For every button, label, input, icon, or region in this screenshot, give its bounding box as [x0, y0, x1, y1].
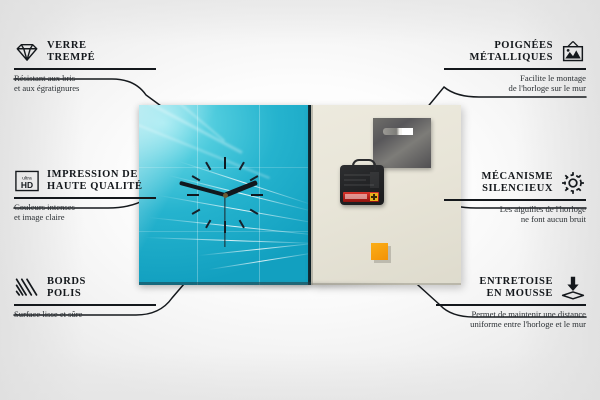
feature-desc: Couleurs intenses et image claire	[14, 202, 156, 223]
feature-desc: Facilite le montage de l'horloge sur le …	[444, 73, 586, 94]
feature-title: POIGNÉES MÉTALLIQUES	[470, 40, 553, 65]
quartz-movement-box	[340, 165, 384, 205]
feature-desc: Permet de maintenir une distance uniform…	[436, 309, 586, 330]
feature-title: VERRE TREMPÉ	[47, 40, 95, 65]
feature-entretoise-en-mousse: ENTRETOISE EN MOUSSE Permet de maintenir…	[436, 275, 586, 329]
infographic-canvas: VERRE TREMPÉ Résistant aux bris et aux é…	[0, 0, 600, 400]
ultra-hd-icon: ultra HD	[14, 168, 40, 194]
feature-rule	[444, 68, 586, 70]
clock-front-panel	[139, 105, 311, 285]
gear-icon	[560, 170, 586, 196]
svg-text:HD: HD	[21, 180, 33, 190]
feature-rule	[436, 304, 586, 306]
metal-hanger-plate	[373, 118, 431, 168]
feature-desc: Les aiguilles de l'horloge ne font aucun…	[444, 204, 586, 225]
feature-bords-polis: BORDS POLIS Surface lisse et sûre	[14, 275, 156, 319]
picture-frame-hanger-icon	[560, 39, 586, 65]
back-panel-left-edge	[311, 105, 313, 285]
product-shadow	[143, 283, 457, 292]
movement-hanger-loop	[352, 159, 376, 170]
foam-spacer	[371, 243, 388, 260]
feature-title: BORDS POLIS	[47, 276, 86, 301]
feature-title: MÉCANISME SILENCIEUX	[482, 171, 553, 196]
feature-rule	[14, 68, 156, 70]
polished-edges-icon	[14, 275, 40, 301]
aa-battery	[343, 192, 379, 202]
feature-rule	[444, 199, 586, 201]
feature-verre-trempe: VERRE TREMPÉ Résistant aux bris et aux é…	[14, 39, 156, 93]
clock-center-cap	[223, 193, 228, 198]
feature-impression-haute-qualite: ultra HD IMPRESSION DE HAUTE QUALITÉ Cou…	[14, 168, 156, 222]
product-image	[139, 105, 461, 285]
feature-rule	[14, 304, 156, 306]
clock-back-panel	[311, 105, 461, 285]
hanger-slot	[383, 128, 413, 135]
feature-poignees-metalliques: POIGNÉES MÉTALLIQUES Facilite le montage…	[444, 39, 586, 93]
battery-plus-terminal	[370, 193, 378, 201]
diamond-icon	[14, 39, 40, 65]
feature-rule	[14, 197, 156, 199]
feature-desc: Surface lisse et sûre	[14, 309, 156, 319]
feature-desc: Résistant aux bris et aux égratignures	[14, 73, 156, 94]
feature-title: ENTRETOISE EN MOUSSE	[479, 276, 553, 301]
feature-title: IMPRESSION DE HAUTE QUALITÉ	[47, 169, 143, 194]
foam-spacer-arrow-icon	[560, 275, 586, 301]
feature-mecanisme-silencieux: MÉCANISME SILENCIEUX Les aiguilles de l'…	[444, 170, 586, 224]
